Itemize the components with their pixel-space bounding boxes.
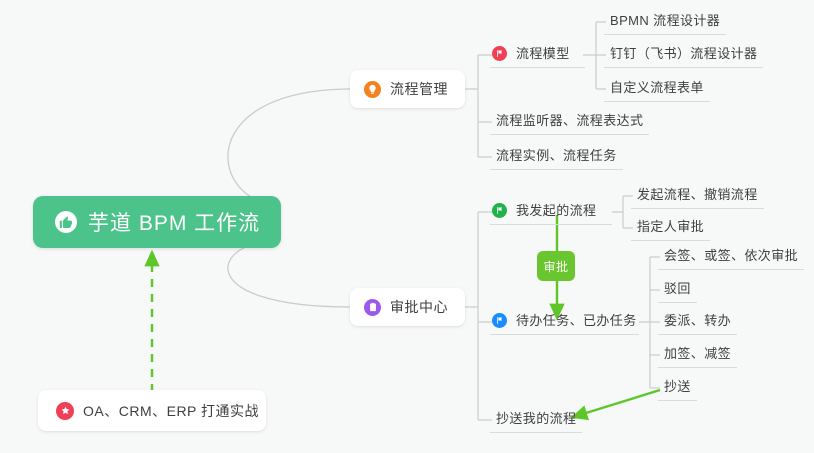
- leaf-item[interactable]: 流程实例、流程任务: [490, 147, 623, 170]
- flag-icon: [492, 203, 507, 218]
- annotation-label: 审批: [543, 258, 568, 275]
- connector-approval-center-spine: [465, 212, 478, 420]
- root-node-label: 芋道 BPM 工作流: [88, 207, 260, 237]
- leaf-item[interactable]: 钉钉（飞书）流程设计器: [604, 45, 763, 68]
- connector-todo-tasks-spine: [639, 257, 650, 388]
- branch-node-label: 流程管理: [390, 79, 448, 99]
- connector-root-to-process-management: [228, 89, 350, 205]
- leaf-item[interactable]: BPMN 流程设计器: [604, 12, 726, 35]
- sub-branch-process-model[interactable]: 流程模型: [490, 45, 585, 68]
- leaf-item[interactable]: 指定人审批: [631, 218, 710, 241]
- sub-branch-label: 我发起的流程: [516, 202, 596, 219]
- branch-node-label: 审批中心: [390, 297, 448, 317]
- connector-my-initiated-spine: [612, 196, 623, 228]
- branch-node-approval-center[interactable]: 审批中心: [350, 288, 465, 326]
- mindmap-canvas: 芋道 BPM 工作流 流程管理 流程模型 BPMN 流程设计器 钉钉（飞书）流程…: [0, 0, 814, 453]
- flag-icon: [492, 46, 507, 61]
- connector-root-to-approval-center: [228, 240, 350, 307]
- star-icon: [56, 402, 74, 420]
- leaf-item[interactable]: 驳回: [658, 280, 697, 303]
- leaf-item[interactable]: 流程监听器、流程表达式: [490, 112, 649, 135]
- leaf-item[interactable]: 会签、或签、依次审批: [658, 247, 804, 270]
- leaf-item[interactable]: 加签、减签: [658, 345, 737, 368]
- thumbs-up-icon: [55, 211, 77, 233]
- flag-icon: [492, 313, 507, 328]
- standalone-node-label: OA、CRM、ERP 打通实战: [83, 401, 259, 421]
- sub-branch-todo-done-tasks[interactable]: 待办任务、已办任务: [490, 312, 639, 335]
- sub-branch-my-initiated[interactable]: 我发起的流程: [490, 202, 612, 225]
- sub-branch-label: 待办任务、已办任务: [516, 312, 637, 329]
- clipboard-icon: [364, 299, 381, 316]
- arrow-cc-to-cc-my-process: [573, 390, 660, 417]
- standalone-node-integration[interactable]: OA、CRM、ERP 打通实战: [38, 390, 266, 431]
- branch-node-process-management[interactable]: 流程管理: [350, 70, 465, 108]
- connector-process-management-spine: [465, 55, 478, 157]
- leaf-item[interactable]: 自定义流程表单: [604, 79, 710, 102]
- sub-branch-label: 流程模型: [516, 45, 570, 62]
- leaf-item[interactable]: 抄送: [658, 378, 697, 401]
- leaf-item[interactable]: 抄送我的流程: [490, 410, 582, 433]
- leaf-item[interactable]: 委派、转办: [658, 312, 737, 335]
- leaf-item[interactable]: 发起流程、撤销流程: [631, 186, 764, 209]
- lightbulb-icon: [364, 81, 381, 98]
- root-node[interactable]: 芋道 BPM 工作流: [33, 196, 281, 248]
- annotation-approve-chip: 审批: [537, 251, 575, 281]
